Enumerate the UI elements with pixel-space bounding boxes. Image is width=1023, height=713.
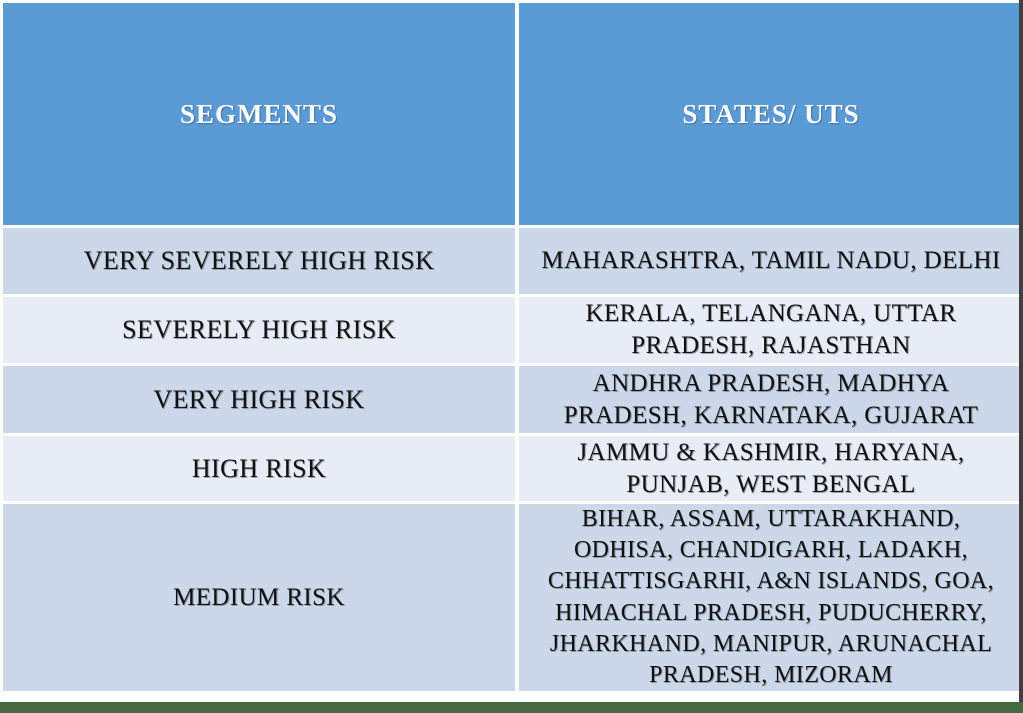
table-body: VERY SEVERELY HIGH RISK MAHARASHTRA, TAM… — [3, 228, 1023, 691]
table-header: SEGMENTS STATES/ UTS — [3, 3, 1023, 225]
segment-label-severely-high-risk: SEVERELY HIGH RISK — [3, 297, 515, 363]
table-row: VERY HIGH RISK ANDHRA PRADESH, MADHYA PR… — [3, 366, 1023, 433]
states-list-high-risk: JAMMU & KASHMIR, HARYANA, PUNJAB, WEST B… — [519, 436, 1023, 501]
column-header-segments: SEGMENTS — [3, 3, 515, 225]
column-header-states: STATES/ UTS — [519, 3, 1023, 225]
table-row: VERY SEVERELY HIGH RISK MAHARASHTRA, TAM… — [3, 228, 1023, 294]
right-edge-rule — [1019, 0, 1023, 702]
states-list-very-high-risk: ANDHRA PRADESH, MADHYA PRADESH, KARNATAK… — [519, 366, 1023, 433]
slide-page: SEGMENTS STATES/ UTS VERY SEVERELY HIGH … — [0, 0, 1023, 713]
states-list-medium-risk: BIHAR, ASSAM, UTTARAKHAND, ODHISA, CHAND… — [519, 504, 1023, 691]
risk-segmentation-table: SEGMENTS STATES/ UTS VERY SEVERELY HIGH … — [0, 0, 1023, 694]
header-row: SEGMENTS STATES/ UTS — [3, 3, 1023, 225]
segment-label-medium-risk: MEDIUM RISK — [3, 504, 515, 691]
states-list-very-severely-high-risk: MAHARASHTRA, TAMIL NADU, DELHI — [519, 228, 1023, 294]
risk-table-container: SEGMENTS STATES/ UTS VERY SEVERELY HIGH … — [0, 0, 1019, 700]
segment-label-very-high-risk: VERY HIGH RISK — [3, 366, 515, 433]
bottom-green-band — [0, 702, 1023, 713]
table-row: MEDIUM RISK BIHAR, ASSAM, UTTARAKHAND, O… — [3, 504, 1023, 691]
table-row: HIGH RISK JAMMU & KASHMIR, HARYANA, PUNJ… — [3, 436, 1023, 501]
states-list-severely-high-risk: KERALA, TELANGANA, UTTAR PRADESH, RAJAST… — [519, 297, 1023, 363]
segment-label-very-severely-high-risk: VERY SEVERELY HIGH RISK — [3, 228, 515, 294]
segment-label-high-risk: HIGH RISK — [3, 436, 515, 501]
table-row: SEVERELY HIGH RISK KERALA, TELANGANA, UT… — [3, 297, 1023, 363]
